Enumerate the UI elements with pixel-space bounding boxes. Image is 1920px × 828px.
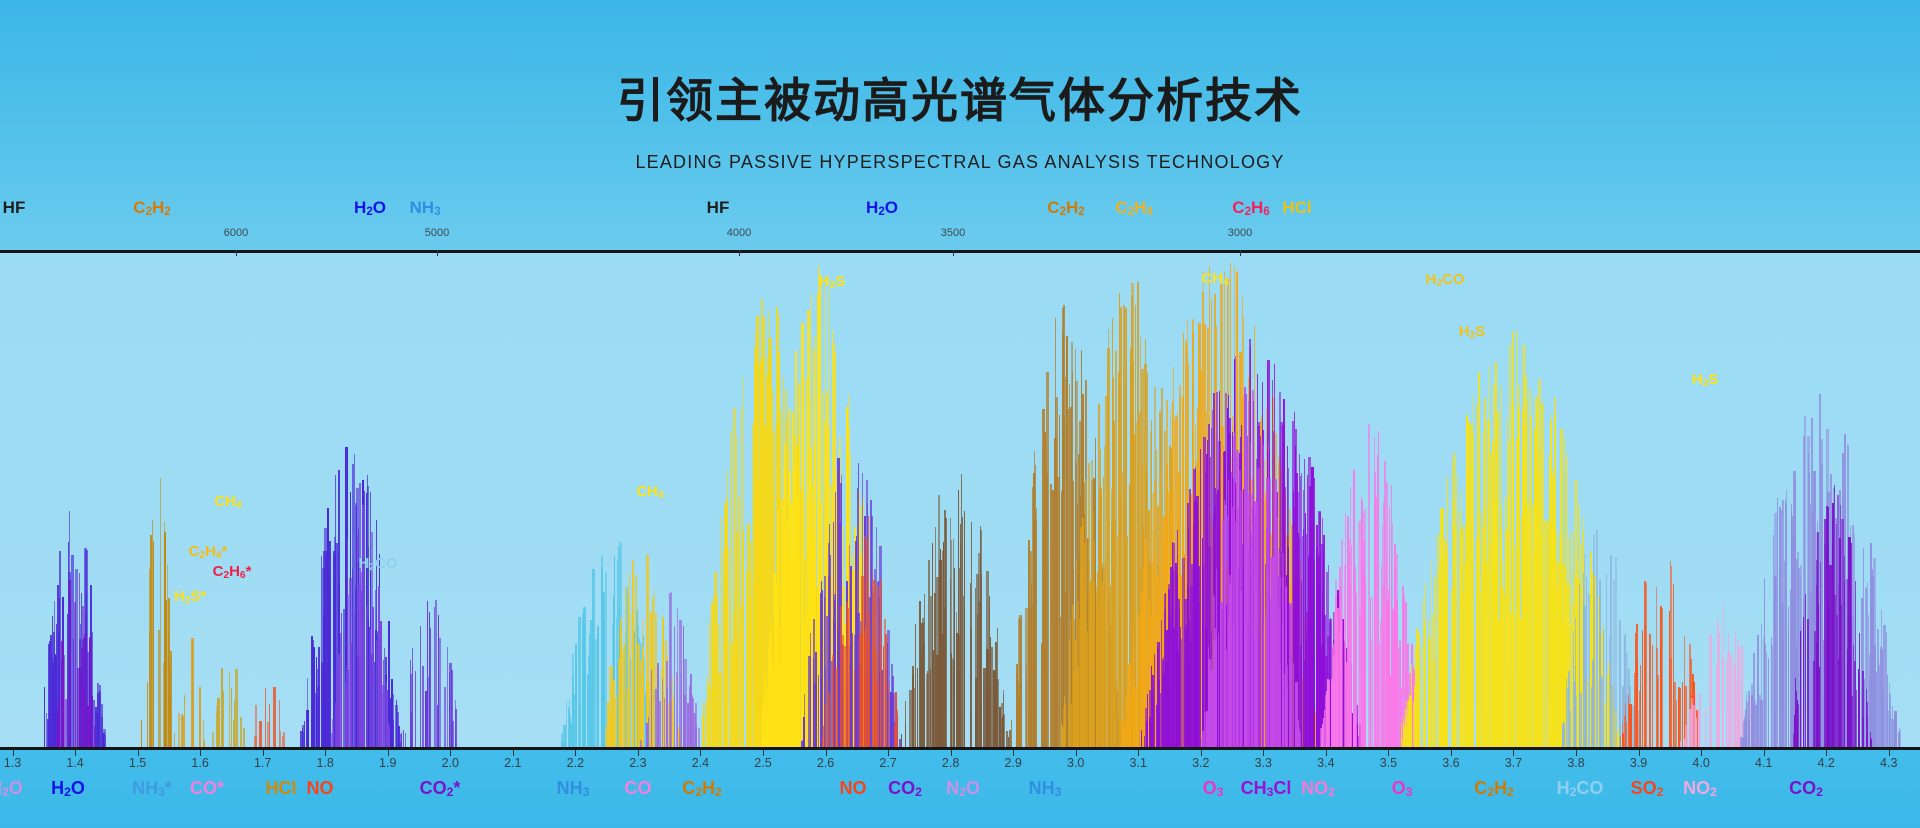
spectral-line bbox=[1630, 713, 1632, 747]
spectral-line bbox=[1003, 694, 1004, 747]
spectral-line bbox=[1642, 630, 1643, 747]
spectral-line bbox=[1568, 671, 1570, 747]
spectral-line bbox=[325, 551, 327, 747]
bottom-axis-tick-label: 1.4 bbox=[66, 756, 83, 770]
spectral-line bbox=[1459, 598, 1462, 747]
spectral-line bbox=[1635, 633, 1636, 747]
species-label-bottom: SO2 bbox=[1631, 778, 1664, 799]
spectral-line bbox=[691, 721, 692, 747]
spectral-line bbox=[1544, 520, 1547, 747]
spectral-line bbox=[1503, 561, 1504, 747]
spectral-line bbox=[815, 652, 817, 747]
spectral-line bbox=[917, 668, 918, 747]
spectral-line bbox=[980, 650, 981, 748]
species-label-top: C2H4 bbox=[1115, 198, 1152, 218]
spectral-line bbox=[1092, 628, 1093, 747]
spectral-line bbox=[1032, 487, 1034, 747]
spectral-line bbox=[563, 725, 566, 747]
spectral-line bbox=[1133, 628, 1134, 748]
spectral-line bbox=[1803, 617, 1804, 747]
spectral-line bbox=[1900, 729, 1901, 747]
spectral-line bbox=[873, 580, 876, 747]
spectral-line bbox=[141, 720, 142, 748]
spectral-line bbox=[1805, 594, 1806, 748]
spectral-line bbox=[618, 626, 619, 747]
spectral-line bbox=[1718, 634, 1720, 747]
spectral-line bbox=[761, 299, 763, 747]
spectral-line bbox=[1387, 607, 1389, 747]
spectral-line bbox=[229, 672, 230, 747]
spectral-line bbox=[1198, 603, 1200, 747]
spectral-line bbox=[1354, 522, 1355, 748]
spectral-line bbox=[868, 614, 870, 747]
spectral-line bbox=[989, 596, 990, 747]
bottom-axis-tick-label: 2.5 bbox=[754, 756, 771, 770]
species-label-inplot: H2CO bbox=[1425, 271, 1464, 289]
spectral-line bbox=[1214, 596, 1215, 747]
spectral-line bbox=[1807, 619, 1809, 747]
spectral-line bbox=[1347, 516, 1349, 747]
species-label-bottom: NO2 bbox=[1683, 778, 1717, 799]
spectral-line bbox=[1146, 721, 1148, 748]
spectral-line bbox=[382, 685, 385, 747]
spectral-line bbox=[1153, 687, 1154, 747]
spectral-line bbox=[52, 663, 54, 747]
spectral-line bbox=[1201, 739, 1204, 747]
spectral-line bbox=[1788, 607, 1789, 747]
bottom-axis-tick-label: 1.7 bbox=[254, 756, 271, 770]
spectral-line bbox=[415, 671, 416, 747]
spectral-line bbox=[380, 621, 382, 747]
spectral-line bbox=[389, 729, 390, 747]
spectral-line bbox=[582, 614, 584, 747]
spectral-line bbox=[1135, 686, 1137, 747]
spectral-line bbox=[770, 705, 771, 747]
spectral-line bbox=[813, 619, 815, 747]
spectral-line bbox=[1858, 700, 1860, 747]
top-axis-tick-label: 4000 bbox=[727, 227, 751, 239]
spectral-line bbox=[1277, 551, 1280, 747]
spectral-line bbox=[888, 683, 889, 747]
bottom-axis-tick-label: 2.0 bbox=[442, 756, 459, 770]
spectral-line bbox=[1530, 588, 1532, 747]
spectral-line bbox=[1419, 666, 1420, 747]
spectral-line bbox=[1225, 650, 1227, 747]
page-header: 引领主被动高光谱气体分析技术 LEADING PASSIVE HYPERSPEC… bbox=[0, 0, 1920, 200]
spectral-line bbox=[1011, 740, 1012, 747]
spectral-line bbox=[1584, 554, 1585, 747]
species-label-bottom: CO2* bbox=[420, 778, 461, 799]
spectral-line bbox=[1800, 631, 1801, 747]
spectral-line bbox=[69, 580, 71, 747]
spectral-line bbox=[1484, 540, 1485, 747]
species-label-top: H2O bbox=[866, 198, 898, 218]
spectral-line bbox=[1130, 694, 1133, 748]
spectral-line bbox=[1588, 594, 1590, 747]
spectral-line bbox=[662, 679, 663, 747]
spectral-line bbox=[1535, 446, 1537, 747]
spectral-line bbox=[149, 633, 150, 747]
spectral-line bbox=[1284, 674, 1285, 747]
spectral-line bbox=[401, 734, 402, 747]
spectral-line bbox=[835, 668, 838, 747]
spectral-line bbox=[1208, 660, 1210, 747]
species-label-top: C2H2 bbox=[1047, 198, 1084, 218]
spectral-line bbox=[713, 645, 715, 747]
spectral-line bbox=[1781, 510, 1782, 747]
spectral-line bbox=[746, 571, 747, 747]
spectral-line bbox=[1497, 412, 1499, 747]
spectral-line bbox=[646, 723, 648, 747]
spectral-line bbox=[798, 562, 800, 747]
spectral-line bbox=[1141, 730, 1142, 748]
spectral-line bbox=[56, 734, 59, 747]
spectral-line bbox=[1179, 608, 1180, 747]
spectral-line bbox=[1671, 566, 1672, 747]
spectral-line bbox=[354, 647, 355, 747]
spectral-line bbox=[1335, 580, 1337, 747]
spectral-line bbox=[410, 674, 412, 747]
spectral-line bbox=[872, 573, 873, 747]
spectral-line bbox=[1636, 624, 1638, 747]
spectral-line bbox=[1779, 565, 1781, 747]
spectral-line bbox=[883, 646, 884, 747]
species-label-inplot: H2S* bbox=[174, 588, 206, 606]
spectral-line bbox=[1488, 366, 1489, 747]
spectral-line bbox=[1717, 621, 1719, 747]
spectral-line bbox=[897, 710, 898, 747]
top-axis-tick-label: 3500 bbox=[941, 227, 965, 239]
species-label-bottom: HCl bbox=[266, 778, 297, 799]
spectral-line bbox=[1420, 647, 1421, 747]
species-label-bottom: NH3* bbox=[132, 778, 172, 799]
spectral-line bbox=[1187, 503, 1189, 747]
spectral-line bbox=[1610, 555, 1612, 747]
spectral-line bbox=[1305, 612, 1308, 747]
spectral-line bbox=[428, 677, 429, 747]
spectral-line bbox=[79, 573, 80, 747]
spectral-line bbox=[362, 570, 364, 747]
bottom-axis-tick-label: 3.7 bbox=[1505, 756, 1522, 770]
species-label-inplot: H2CO bbox=[358, 555, 397, 573]
spectral-line bbox=[282, 736, 283, 748]
spectral-line bbox=[74, 602, 76, 747]
spectral-line bbox=[1870, 740, 1872, 747]
spectral-line bbox=[203, 720, 204, 747]
spectral-line bbox=[1894, 715, 1896, 747]
spectral-line bbox=[1882, 649, 1883, 747]
spectral-line bbox=[568, 707, 570, 747]
spectral-line bbox=[1592, 660, 1594, 748]
spectral-line bbox=[449, 663, 452, 747]
spectral-line bbox=[273, 687, 276, 748]
spectral-line bbox=[1433, 674, 1434, 747]
spectral-line bbox=[687, 703, 689, 747]
spectral-line bbox=[1231, 472, 1232, 747]
spectral-line bbox=[405, 733, 406, 747]
spectral-line bbox=[1746, 692, 1747, 747]
spectral-line bbox=[796, 423, 797, 747]
spectral-line bbox=[1833, 631, 1834, 747]
spectral-line bbox=[267, 722, 270, 747]
spectral-line bbox=[346, 675, 348, 747]
spectral-line bbox=[1065, 723, 1066, 747]
spectral-line bbox=[1478, 630, 1480, 747]
species-label-bottom: NO2 bbox=[1301, 778, 1335, 799]
spectral-line bbox=[184, 695, 185, 747]
spectral-line bbox=[1079, 618, 1080, 747]
bottom-axis-tick-label: 3.1 bbox=[1130, 756, 1147, 770]
spectral-line bbox=[1065, 377, 1067, 747]
spectral-line bbox=[1599, 580, 1601, 747]
spectral-line bbox=[1736, 681, 1737, 747]
species-label-bottom: CO2 bbox=[888, 778, 922, 799]
spectral-line bbox=[1059, 415, 1060, 747]
spectral-line bbox=[444, 687, 446, 747]
spectral-line bbox=[1127, 691, 1130, 747]
spectral-line bbox=[1751, 684, 1753, 747]
species-label-inplot: CH4 bbox=[636, 483, 663, 501]
spectral-line bbox=[1520, 517, 1521, 748]
spectral-line bbox=[302, 725, 305, 747]
spectral-line bbox=[1195, 498, 1196, 747]
spectral-line bbox=[1101, 540, 1102, 748]
bottom-axis-tick-label: 3.8 bbox=[1567, 756, 1584, 770]
spectral-line bbox=[1257, 468, 1260, 747]
spectral-line bbox=[861, 631, 863, 747]
spectral-line bbox=[1872, 569, 1873, 747]
species-label-top: HCl bbox=[1282, 198, 1311, 218]
spectral-line bbox=[166, 600, 167, 747]
spectral-line bbox=[212, 732, 214, 747]
spectral-line bbox=[1370, 642, 1371, 747]
spectral-line bbox=[169, 665, 171, 747]
spectral-line bbox=[1083, 620, 1084, 747]
spectral-line bbox=[1206, 711, 1208, 747]
spectral-line bbox=[1218, 633, 1219, 747]
spectral-line bbox=[1722, 602, 1723, 748]
spectral-line bbox=[392, 696, 393, 747]
spectral-line bbox=[92, 727, 93, 747]
spectral-line bbox=[385, 682, 387, 747]
spectral-line bbox=[1646, 583, 1647, 747]
spectral-line bbox=[743, 531, 744, 747]
spectral-line bbox=[233, 720, 235, 747]
spectral-line bbox=[1299, 732, 1301, 747]
spectral-line bbox=[307, 720, 308, 747]
spectral-line bbox=[283, 732, 285, 747]
spectral-line bbox=[337, 667, 338, 747]
spectral-line bbox=[1452, 460, 1453, 747]
spectral-line bbox=[1041, 644, 1042, 747]
spectral-line bbox=[1416, 628, 1418, 747]
spectral-line bbox=[1580, 693, 1582, 747]
species-label-top: HF bbox=[707, 198, 730, 218]
spectral-line bbox=[1867, 718, 1868, 747]
spectral-line bbox=[1333, 655, 1335, 747]
spectral-line bbox=[1299, 454, 1300, 747]
spectral-line bbox=[89, 637, 92, 747]
spectral-line bbox=[708, 684, 710, 747]
spectral-line bbox=[240, 717, 242, 747]
spectral-line bbox=[1844, 581, 1845, 747]
spectral-line bbox=[1177, 530, 1178, 747]
spectral-line bbox=[1889, 683, 1890, 747]
spectral-line bbox=[823, 726, 824, 747]
spectral-line bbox=[341, 613, 342, 747]
spectral-line bbox=[153, 541, 154, 747]
spectral-line bbox=[1361, 497, 1362, 747]
spectral-line bbox=[885, 671, 887, 747]
spectral-line bbox=[1603, 629, 1604, 747]
spectral-line bbox=[455, 733, 456, 747]
spectral-line bbox=[666, 688, 668, 747]
spectral-line bbox=[1019, 619, 1022, 747]
spectral-line bbox=[832, 655, 834, 747]
spectral-line bbox=[603, 606, 604, 747]
spectral-line bbox=[1233, 436, 1234, 748]
spectral-line bbox=[1878, 660, 1879, 747]
spectral-line bbox=[912, 666, 914, 747]
spectral-line bbox=[1030, 631, 1031, 747]
spectral-line bbox=[255, 705, 257, 747]
spectral-line bbox=[642, 647, 644, 747]
bottom-axis-tick-label: 3.6 bbox=[1442, 756, 1459, 770]
spectral-line bbox=[849, 545, 850, 747]
spectral-line bbox=[1123, 730, 1125, 747]
spectral-line bbox=[940, 549, 941, 747]
spectral-line bbox=[174, 733, 175, 747]
page-subtitle: LEADING PASSIVE HYPERSPECTRAL GAS ANALYS… bbox=[0, 152, 1920, 173]
bottom-axis-tick-label: 4.1 bbox=[1755, 756, 1772, 770]
spectral-line bbox=[1322, 724, 1323, 747]
spectral-line bbox=[738, 497, 740, 747]
bottom-axis-tick-label: 2.6 bbox=[817, 756, 834, 770]
spectral-line bbox=[843, 693, 844, 747]
spectral-line bbox=[1282, 632, 1284, 748]
spectral-line bbox=[1660, 606, 1662, 747]
bottom-axis-tick-label: 4.2 bbox=[1817, 756, 1834, 770]
plot-area: CH4C2H4*C2H6*H2S*H2COCH4H2SCH4H2COH2SH2S bbox=[0, 253, 1920, 747]
bottom-axis-tick-label: 1.9 bbox=[379, 756, 396, 770]
spectral-line bbox=[1248, 401, 1249, 747]
spectral-line bbox=[620, 618, 622, 747]
spectral-line bbox=[614, 698, 617, 747]
bottom-axis-tick-label: 2.4 bbox=[692, 756, 709, 770]
spectral-line bbox=[669, 593, 671, 747]
spectral-line bbox=[217, 698, 220, 747]
spectral-line bbox=[1397, 632, 1398, 747]
species-label-bottom: NO bbox=[840, 778, 867, 799]
top-axis-tick bbox=[236, 250, 237, 256]
species-label-bottom: NO bbox=[307, 778, 334, 799]
spectral-line bbox=[235, 669, 238, 747]
spectral-line bbox=[204, 740, 205, 747]
spectral-line bbox=[1523, 345, 1525, 747]
spectral-line bbox=[48, 644, 50, 747]
spectral-line bbox=[1289, 603, 1292, 747]
top-axis-tick-label: 5000 bbox=[425, 227, 449, 239]
spectral-line bbox=[1482, 432, 1483, 747]
spectral-line bbox=[657, 669, 659, 747]
spectral-line bbox=[1826, 506, 1828, 747]
spectral-chart: CH4C2H4*C2H6*H2S*H2COCH4H2SCH4H2COH2SH2S… bbox=[0, 200, 1920, 828]
spectral-line bbox=[1820, 562, 1821, 747]
spectral-line bbox=[279, 700, 280, 747]
bottom-axis-tick-label: 2.8 bbox=[942, 756, 959, 770]
spectral-line bbox=[1676, 700, 1677, 748]
spectral-line bbox=[804, 694, 805, 747]
spectral-line bbox=[331, 733, 334, 747]
spectral-line bbox=[1236, 529, 1238, 747]
spectral-line bbox=[1516, 438, 1518, 747]
spectral-line bbox=[1119, 293, 1120, 747]
spectral-line bbox=[1829, 565, 1832, 747]
spectral-line bbox=[1813, 661, 1815, 747]
spectral-line bbox=[1340, 681, 1342, 747]
spectral-line bbox=[961, 474, 962, 748]
spectral-line bbox=[930, 669, 931, 747]
spectral-line bbox=[1575, 666, 1576, 747]
species-label-inplot: CH4 bbox=[214, 493, 241, 511]
spectral-line bbox=[1006, 731, 1008, 747]
spectral-line bbox=[1791, 627, 1792, 747]
spectral-line bbox=[376, 641, 377, 747]
spectral-line bbox=[924, 643, 925, 747]
spectral-line bbox=[1649, 634, 1651, 747]
species-label-inplot: H2S bbox=[1692, 371, 1719, 389]
spectral-line bbox=[1838, 659, 1839, 748]
species-label-bottom: H2CO bbox=[1557, 778, 1604, 799]
spectral-line bbox=[1327, 680, 1330, 747]
species-label-bottom: NH3 bbox=[557, 778, 590, 799]
spectral-line bbox=[719, 677, 721, 747]
spectral-line bbox=[605, 727, 607, 747]
spectral-line bbox=[243, 728, 245, 747]
spectral-line bbox=[1318, 555, 1320, 747]
spectral-line bbox=[1069, 704, 1072, 747]
spectral-line bbox=[422, 666, 424, 748]
spectral-line bbox=[629, 574, 630, 747]
species-label-bottom: H2O bbox=[51, 778, 85, 799]
spectral-line bbox=[1851, 696, 1853, 747]
spectral-line bbox=[1404, 724, 1406, 747]
spectral-line bbox=[1446, 489, 1447, 747]
bottom-axis-tick-label: 2.3 bbox=[629, 756, 646, 770]
spectral-line bbox=[821, 590, 823, 747]
spectral-line bbox=[1157, 646, 1158, 747]
spectral-line bbox=[1364, 590, 1366, 747]
spectral-line bbox=[1795, 678, 1796, 747]
spectral-line bbox=[1043, 410, 1044, 747]
spectral-line bbox=[993, 672, 996, 747]
spectral-line bbox=[905, 723, 906, 747]
spectral-line bbox=[1162, 659, 1163, 747]
bottom-axis-tick-label: 2.9 bbox=[1004, 756, 1021, 770]
species-label-bottom: C2H2 bbox=[1474, 778, 1514, 799]
spectral-line bbox=[430, 628, 431, 747]
spectral-line bbox=[1244, 387, 1246, 748]
spectral-line bbox=[1678, 687, 1680, 748]
spectral-line bbox=[590, 620, 593, 747]
spectral-line bbox=[1615, 557, 1617, 747]
spectral-line bbox=[1502, 589, 1503, 748]
spectral-line bbox=[894, 725, 896, 747]
spectral-line bbox=[77, 668, 79, 747]
species-label-bottom: O3 bbox=[1392, 778, 1413, 799]
spectral-line bbox=[1526, 505, 1528, 747]
spectral-line bbox=[178, 713, 180, 747]
